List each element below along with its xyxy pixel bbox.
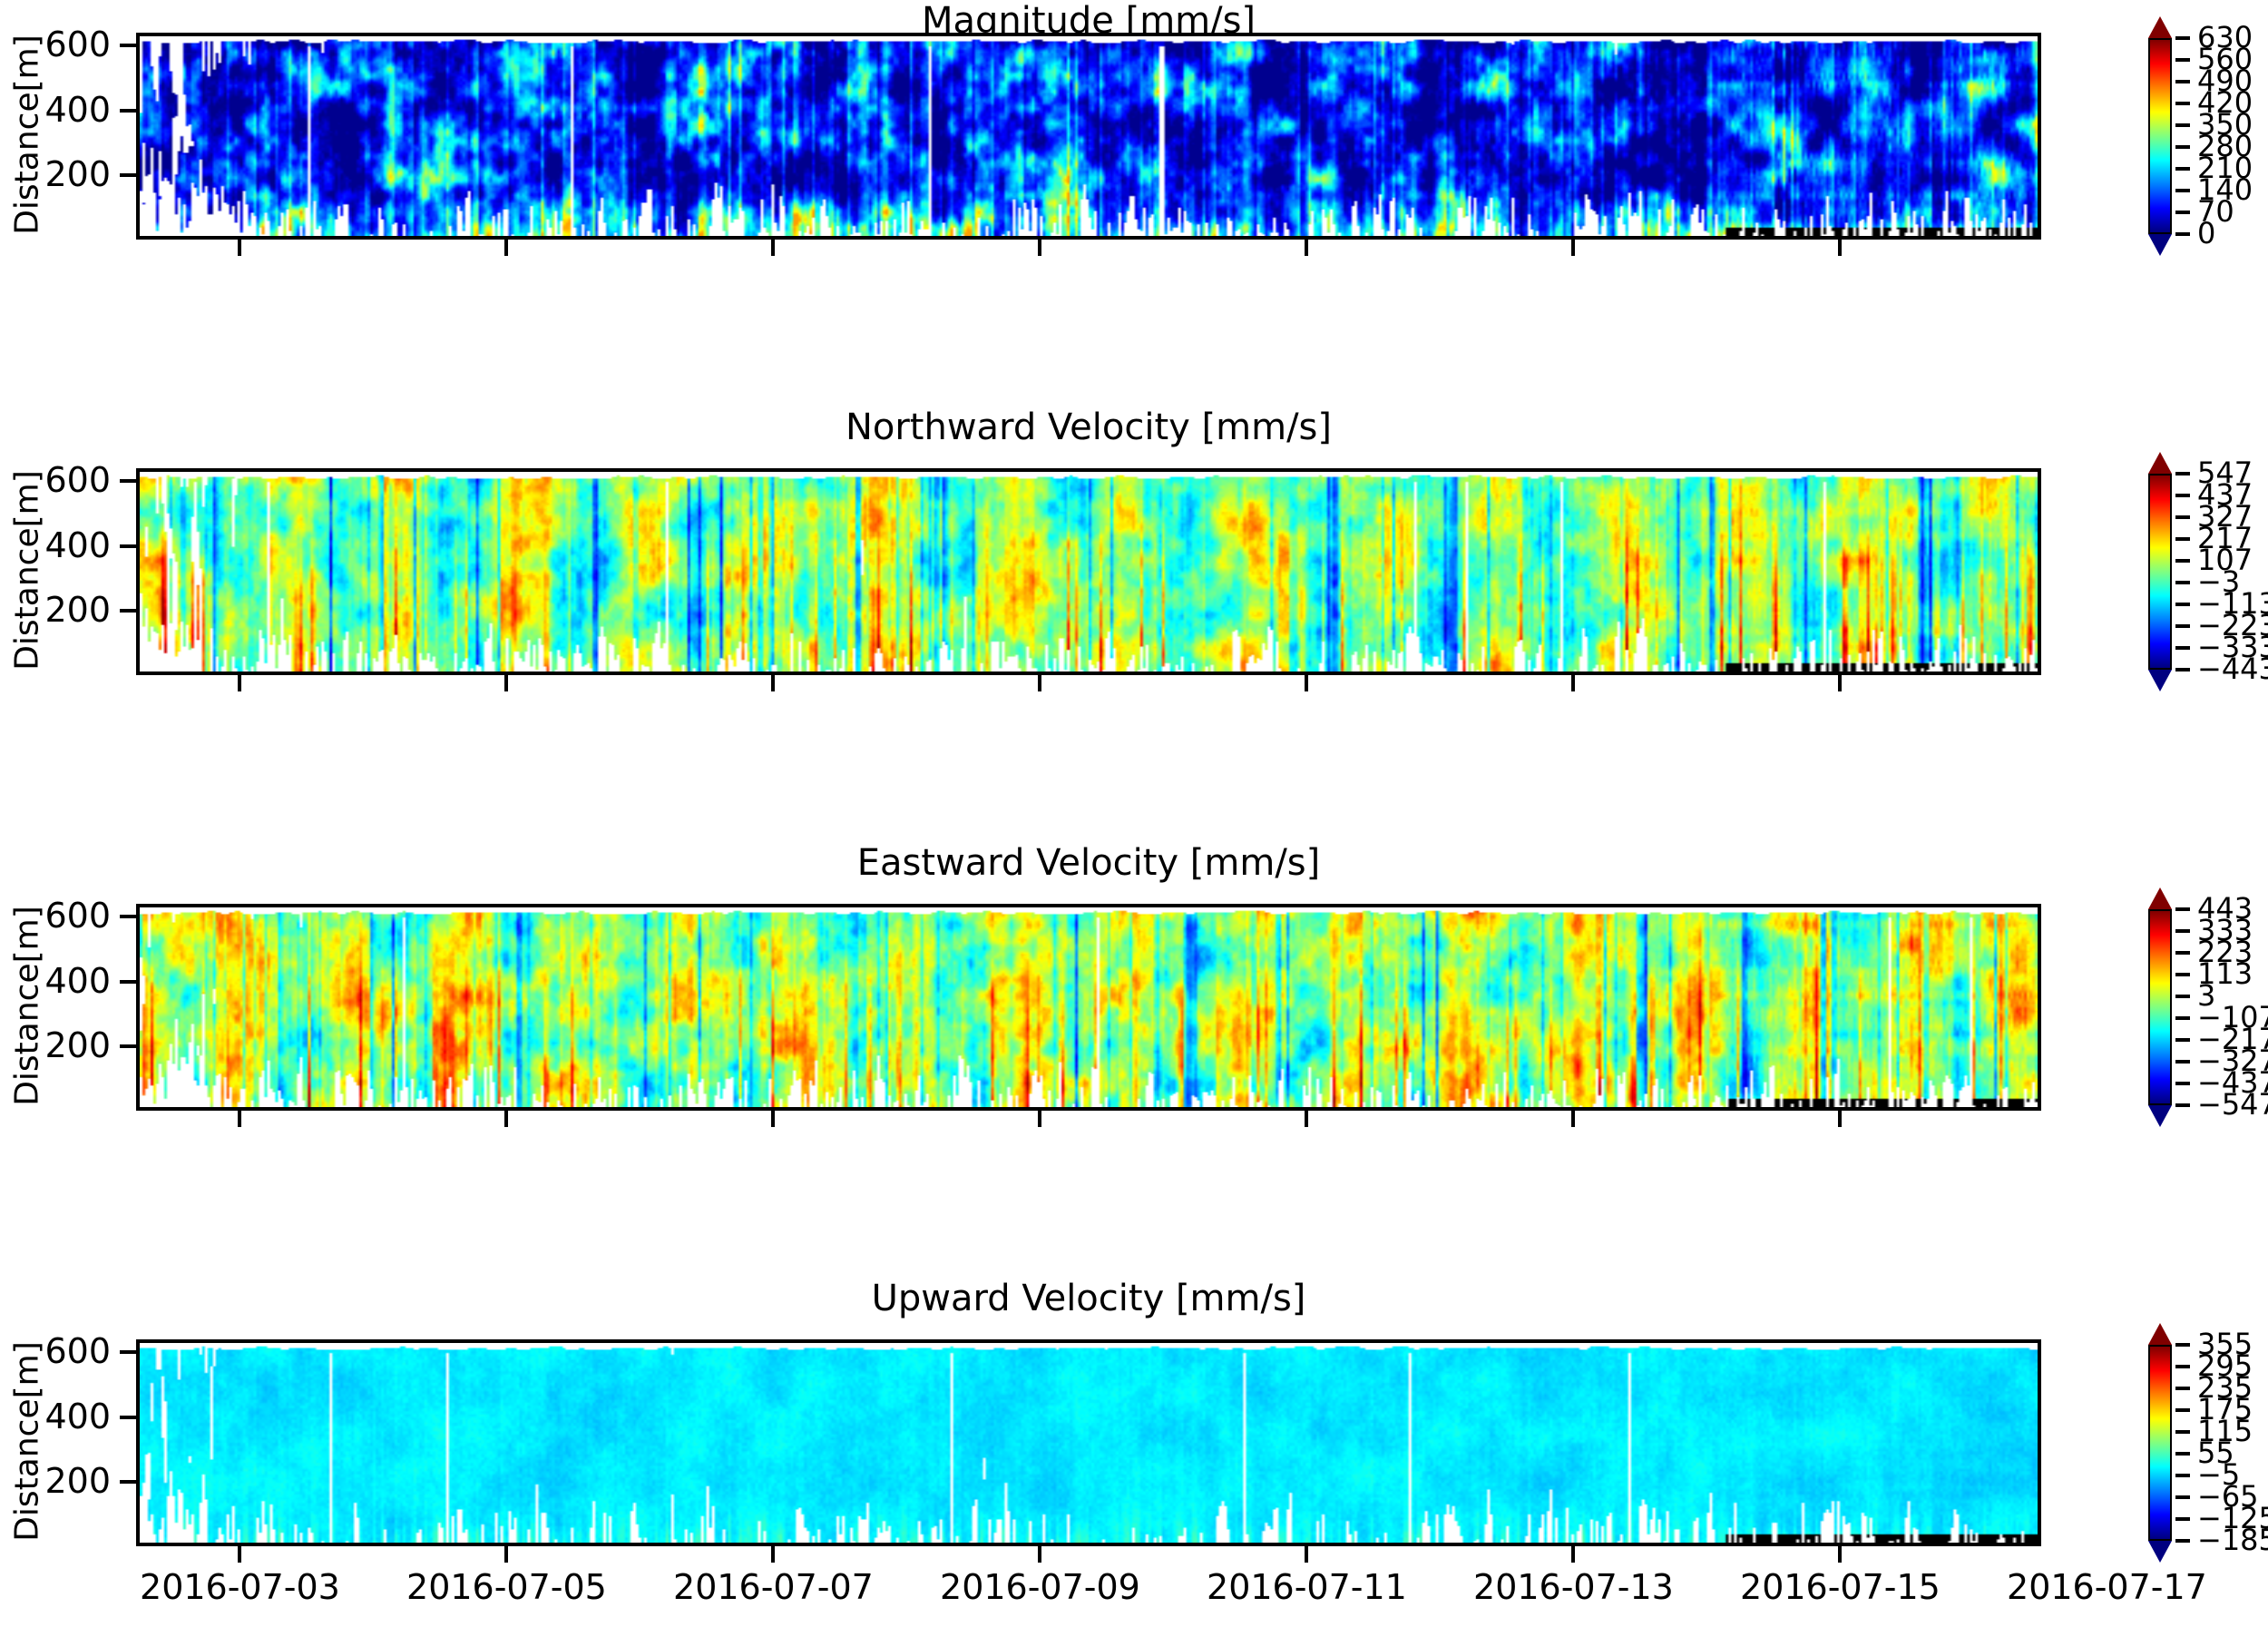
colorbar-max-arrow-0 xyxy=(2148,16,2172,38)
colorbar-tick-1-8 xyxy=(2175,646,2190,650)
x-tick-0-0 xyxy=(238,240,241,256)
x-tick-label-3: 2016-07-09 xyxy=(904,1570,1176,1604)
colorbar-tick-2-6 xyxy=(2175,1038,2190,1042)
panel-title-2: Eastward Velocity [mm/s] xyxy=(136,842,2041,884)
y-tick-label-2-0: 200 xyxy=(6,1028,111,1063)
colorbar-tick-1-2 xyxy=(2175,515,2190,519)
colorbar-tick-2-3 xyxy=(2175,973,2190,976)
x-tick-2-1 xyxy=(504,1111,508,1127)
x-tick-3-5 xyxy=(1571,1546,1575,1563)
colorbar-gradient-1 xyxy=(2148,474,2172,670)
colorbar-tick-0-7 xyxy=(2175,189,2190,192)
x-tick-0-5 xyxy=(1571,240,1575,256)
colorbar-tick-0-3 xyxy=(2175,102,2190,105)
y-tick-0-0 xyxy=(120,173,136,177)
colorbar-tick-label-2-9: −547 xyxy=(2197,1090,2268,1119)
y-tick-0-1 xyxy=(120,109,136,113)
colorbar-tick-label-0-9: 0 xyxy=(2197,219,2215,248)
colorbar-tick-3-5 xyxy=(2175,1452,2190,1456)
y-tick-label-0-1: 400 xyxy=(6,93,111,127)
y-tick-label-0-0: 200 xyxy=(6,157,111,191)
colorbar-tick-2-8 xyxy=(2175,1082,2190,1085)
colorbar-tick-0-9 xyxy=(2175,232,2190,236)
plot-area-0 xyxy=(136,33,2041,240)
x-tick-1-4 xyxy=(1305,675,1308,691)
y-tick-label-3-1: 400 xyxy=(6,1399,111,1434)
x-tick-1-0 xyxy=(238,675,241,691)
y-axis-label-2: Distance[m] xyxy=(9,903,46,1110)
y-tick-1-2 xyxy=(120,479,136,483)
colorbar-tick-3-2 xyxy=(2175,1387,2190,1390)
x-tick-label-2: 2016-07-07 xyxy=(637,1570,909,1604)
colorbar-min-arrow-2 xyxy=(2148,1105,2172,1127)
x-tick-1-1 xyxy=(504,675,508,691)
y-tick-2-0 xyxy=(120,1044,136,1048)
colorbar-0: 630560490420350280210140700 xyxy=(2148,16,2268,256)
y-axis-label-1: Distance[m] xyxy=(9,467,46,674)
colorbar-min-arrow-0 xyxy=(2148,234,2172,256)
plot-area-1 xyxy=(136,468,2041,675)
colorbar-tick-3-7 xyxy=(2175,1495,2190,1499)
heatmap-image-0 xyxy=(140,36,2038,236)
x-tick-label-5: 2016-07-13 xyxy=(1437,1570,1709,1604)
colorbar-tick-3-8 xyxy=(2175,1517,2190,1521)
x-tick-3-4 xyxy=(1305,1546,1308,1563)
x-tick-3-1 xyxy=(504,1546,508,1563)
colorbar-tick-1-6 xyxy=(2175,603,2190,606)
x-tick-3-6 xyxy=(1838,1546,1842,1563)
colorbar-tick-2-2 xyxy=(2175,951,2190,955)
x-tick-2-3 xyxy=(1038,1111,1041,1127)
colorbar-3: 35529523517511555−5−65−125−185 xyxy=(2148,1323,2268,1563)
y-tick-label-2-2: 600 xyxy=(6,898,111,933)
x-tick-label-1: 2016-07-05 xyxy=(370,1570,642,1604)
colorbar-tick-2-5 xyxy=(2175,1016,2190,1020)
y-tick-label-0-2: 600 xyxy=(6,27,111,62)
x-tick-1-5 xyxy=(1571,675,1575,691)
colorbar-tick-3-1 xyxy=(2175,1365,2190,1368)
x-tick-3-0 xyxy=(238,1546,241,1563)
colorbar-1: 547437327217107−3−113−223−333−443 xyxy=(2148,452,2268,691)
colorbar-tick-0-4 xyxy=(2175,123,2190,127)
colorbar-tick-1-5 xyxy=(2175,581,2190,584)
y-axis-label-0: Distance[m] xyxy=(9,32,46,239)
colorbar-tick-0-1 xyxy=(2175,58,2190,62)
x-tick-1-2 xyxy=(771,675,775,691)
colorbar-tick-3-4 xyxy=(2175,1430,2190,1434)
heatmap-image-1 xyxy=(140,472,2038,671)
x-tick-2-6 xyxy=(1838,1111,1842,1127)
colorbar-tick-3-9 xyxy=(2175,1539,2190,1543)
panel-title-3: Upward Velocity [mm/s] xyxy=(136,1278,2041,1319)
x-tick-1-3 xyxy=(1038,675,1041,691)
x-tick-label-0: 2016-07-03 xyxy=(103,1570,376,1604)
x-tick-1-6 xyxy=(1838,675,1842,691)
colorbar-tick-0-0 xyxy=(2175,36,2190,40)
x-tick-0-1 xyxy=(504,240,508,256)
y-tick-1-0 xyxy=(120,609,136,613)
y-tick-label-2-1: 400 xyxy=(6,964,111,998)
colorbar-tick-2-1 xyxy=(2175,929,2190,933)
colorbar-tick-2-9 xyxy=(2175,1103,2190,1107)
x-tick-label-6: 2016-07-15 xyxy=(1704,1570,1976,1604)
colorbar-tick-1-9 xyxy=(2175,668,2190,671)
colorbar-gradient-2 xyxy=(2148,909,2172,1105)
colorbar-gradient-3 xyxy=(2148,1345,2172,1541)
x-tick-2-2 xyxy=(771,1111,775,1127)
x-tick-label-4: 2016-07-11 xyxy=(1170,1570,1442,1604)
colorbar-tick-0-6 xyxy=(2175,167,2190,171)
figure-root: Magnitude [mm/s]Distance[m]2004006006305… xyxy=(0,0,2268,1637)
colorbar-tick-3-3 xyxy=(2175,1408,2190,1412)
y-tick-3-1 xyxy=(120,1416,136,1419)
x-tick-2-4 xyxy=(1305,1111,1308,1127)
colorbar-tick-2-4 xyxy=(2175,995,2190,998)
colorbar-tick-0-2 xyxy=(2175,80,2190,83)
colorbar-gradient-0 xyxy=(2148,38,2172,234)
x-tick-0-2 xyxy=(771,240,775,256)
colorbar-tick-label-1-9: −443 xyxy=(2197,654,2268,683)
x-tick-label-7: 2016-07-17 xyxy=(1970,1570,2243,1604)
y-tick-3-0 xyxy=(120,1480,136,1484)
y-tick-1-1 xyxy=(120,544,136,548)
y-tick-label-1-2: 600 xyxy=(6,463,111,497)
colorbar-tick-0-8 xyxy=(2175,211,2190,214)
y-tick-label-1-1: 400 xyxy=(6,528,111,563)
colorbar-tick-0-5 xyxy=(2175,145,2190,149)
y-tick-2-1 xyxy=(120,980,136,984)
x-tick-3-2 xyxy=(771,1546,775,1563)
colorbar-tick-3-6 xyxy=(2175,1474,2190,1477)
colorbar-tick-1-0 xyxy=(2175,472,2190,475)
y-tick-3-2 xyxy=(120,1350,136,1354)
x-tick-2-5 xyxy=(1571,1111,1575,1127)
colorbar-min-arrow-1 xyxy=(2148,670,2172,691)
panel-title-1: Northward Velocity [mm/s] xyxy=(136,407,2041,448)
colorbar-max-arrow-3 xyxy=(2148,1323,2172,1345)
colorbar-tick-1-3 xyxy=(2175,537,2190,541)
colorbar-tick-1-4 xyxy=(2175,559,2190,563)
colorbar-min-arrow-3 xyxy=(2148,1541,2172,1563)
x-tick-0-6 xyxy=(1838,240,1842,256)
colorbar-tick-1-1 xyxy=(2175,494,2190,497)
x-tick-0-4 xyxy=(1305,240,1308,256)
heatmap-image-2 xyxy=(140,907,2038,1107)
colorbar-tick-1-7 xyxy=(2175,624,2190,628)
colorbar-2: 4433332231133−107−217−327−437−547 xyxy=(2148,887,2268,1127)
colorbar-max-arrow-1 xyxy=(2148,452,2172,474)
y-tick-label-3-2: 600 xyxy=(6,1334,111,1368)
x-tick-0-3 xyxy=(1038,240,1041,256)
colorbar-tick-2-0 xyxy=(2175,907,2190,911)
colorbar-tick-label-3-9: −185 xyxy=(2197,1525,2268,1554)
colorbar-tick-2-7 xyxy=(2175,1060,2190,1064)
y-tick-2-2 xyxy=(120,915,136,918)
x-tick-3-3 xyxy=(1038,1546,1041,1563)
x-tick-2-0 xyxy=(238,1111,241,1127)
y-tick-label-1-0: 200 xyxy=(6,593,111,627)
y-tick-label-3-0: 200 xyxy=(6,1464,111,1498)
colorbar-max-arrow-2 xyxy=(2148,887,2172,909)
colorbar-tick-3-0 xyxy=(2175,1343,2190,1347)
plot-area-2 xyxy=(136,904,2041,1111)
y-axis-label-3: Distance[m] xyxy=(9,1338,46,1545)
y-tick-0-2 xyxy=(120,44,136,47)
plot-area-3 xyxy=(136,1339,2041,1546)
heatmap-image-3 xyxy=(140,1343,2038,1543)
